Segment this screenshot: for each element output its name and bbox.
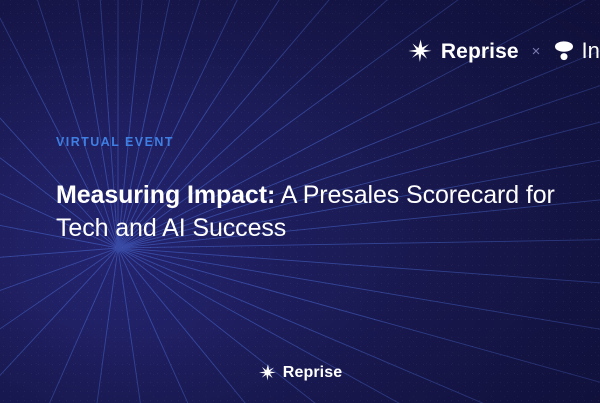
- co-brand-logo-bar: Reprise × In: [407, 38, 600, 64]
- reprise-logo-footer[interactable]: Reprise: [0, 363, 600, 382]
- event-headline: Measuring Impact: A Presales Scorecard f…: [56, 179, 560, 245]
- reprise-starburst-icon: [407, 38, 433, 64]
- reprise-logo-wordmark: Reprise: [441, 41, 519, 62]
- reprise-footer-wordmark: Reprise: [283, 365, 342, 381]
- reprise-starburst-icon: [258, 363, 277, 382]
- event-copy-block: VIRTUAL EVENT Measuring Impact: A Presal…: [56, 136, 560, 245]
- event-headline-lead: Measuring Impact:: [56, 181, 275, 209]
- brand-separator-x: ×: [532, 44, 541, 59]
- event-type-eyebrow: VIRTUAL EVENT: [56, 136, 560, 149]
- partner-logo-header[interactable]: In: [553, 39, 600, 63]
- event-promo-card: Reprise × In VIRTUAL EVENT Measuring Imp…: [0, 0, 600, 403]
- partner-mushroom-icon: [553, 39, 575, 63]
- reprise-logo-header[interactable]: Reprise: [407, 38, 519, 64]
- partner-logo-wordmark: In: [581, 40, 600, 62]
